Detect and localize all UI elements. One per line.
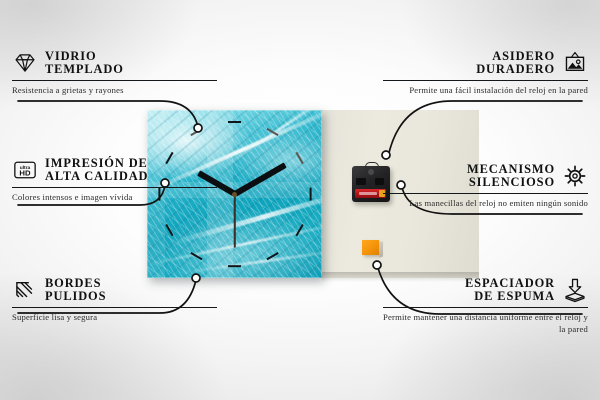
connector-dot-vidrio (194, 124, 202, 132)
feature-impresion-alta-calidad: ultra HD IMPRESIÓN DE ALTA CALIDAD Color… (12, 157, 217, 204)
feature-header: ultra HD IMPRESIÓN DE ALTA CALIDAD (12, 157, 217, 184)
feature-titles: ASIDERO DURADERO (476, 50, 555, 77)
gear-icon (562, 163, 588, 189)
feature-titles: ESPACIADOR DE ESPUMA (465, 277, 555, 304)
foam-spacer-icon (562, 277, 588, 303)
feature-title-line2: ALTA CALIDAD (45, 170, 148, 183)
ultra-hd-icon: ultra HD (12, 157, 38, 183)
feature-description: Colores intensos e imagen vívida (12, 192, 217, 204)
feature-description: Permite una fácil instalación del reloj … (383, 85, 588, 97)
feature-divider (12, 80, 217, 81)
feature-header: BORDES PULIDOS (12, 277, 217, 304)
feature-title-line1: MECANISMO (467, 163, 555, 176)
feature-title-line2: DE ESPUMA (474, 290, 555, 303)
feature-titles: BORDES PULIDOS (45, 277, 106, 304)
feature-title-line1: VIDRIO (45, 50, 124, 63)
feature-title-line2: TEMPLADO (45, 63, 124, 76)
feature-header: MECANISMO SILENCIOSO (383, 163, 588, 190)
feature-divider (12, 187, 217, 188)
feature-vidrio-templado: VIDRIO TEMPLADO Resistencia a grietas y … (12, 50, 217, 97)
feature-title-line2: SILENCIOSO (469, 176, 555, 189)
diamond-icon (12, 50, 38, 76)
feature-titles: IMPRESIÓN DE ALTA CALIDAD (45, 157, 148, 184)
connector-dot-espaciador (373, 261, 381, 269)
feature-titles: MECANISMO SILENCIOSO (467, 163, 555, 190)
feature-header: VIDRIO TEMPLADO (12, 50, 217, 77)
feature-asidero-duradero: ASIDERO DURADERO Permite una fácil insta… (383, 50, 588, 97)
feature-description: Superficie lisa y segura (12, 312, 217, 324)
feature-header: ASIDERO DURADERO (383, 50, 588, 77)
polished-edges-icon (12, 277, 38, 303)
feature-description: Permite mantener una distancia uniforme … (383, 312, 588, 336)
feature-espaciador-de-espuma: ESPACIADOR DE ESPUMA Permite mantener un… (383, 277, 588, 336)
feature-title-line1: IMPRESIÓN DE (45, 157, 148, 170)
feature-title-line2: PULIDOS (45, 290, 106, 303)
connector-asidero (388, 101, 582, 157)
connector-dot-asidero (382, 151, 390, 159)
feature-title-line2: DURADERO (476, 63, 555, 76)
infographic-canvas: VIDRIO TEMPLADO Resistencia a grietas y … (0, 0, 600, 400)
picture-hanger-icon (562, 50, 588, 76)
feature-title-line1: BORDES (45, 277, 106, 290)
feature-title-line1: ESPACIADOR (465, 277, 555, 290)
feature-titles: VIDRIO TEMPLADO (45, 50, 124, 77)
feature-description: Resistencia a grietas y rayones (12, 85, 217, 97)
feature-mecanismo-silencioso: MECANISMO SILENCIOSO Las manecillas del … (383, 163, 588, 210)
feature-divider (383, 80, 588, 81)
feature-divider (12, 307, 217, 308)
feature-bordes-pulidos: BORDES PULIDOS Superficie lisa y segura (12, 277, 217, 324)
feature-description: Las manecillas del reloj no emiten ningú… (383, 198, 588, 210)
feature-title-line1: ASIDERO (492, 50, 555, 63)
svg-text:HD: HD (19, 169, 31, 178)
feature-divider (383, 307, 588, 308)
feature-divider (383, 193, 588, 194)
feature-header: ESPACIADOR DE ESPUMA (383, 277, 588, 304)
connector-vidrio (18, 101, 198, 127)
